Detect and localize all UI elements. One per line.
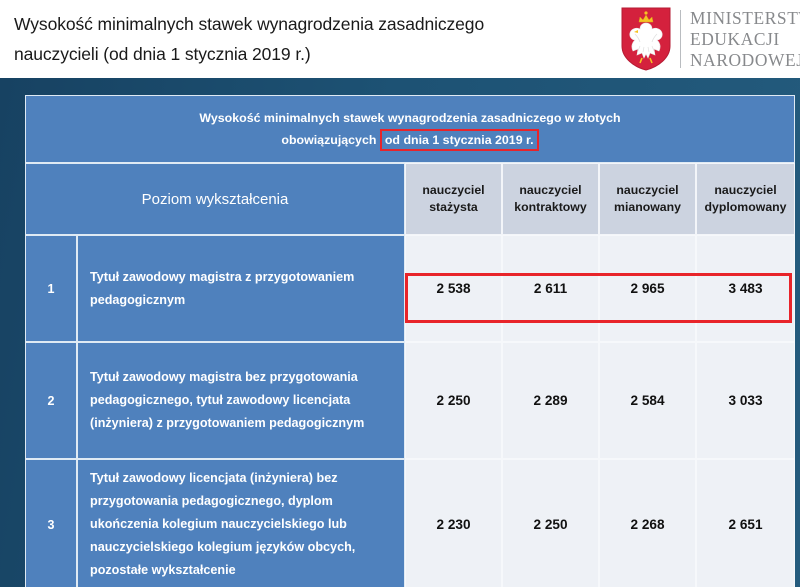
- ministry-line-1: MINISTERSTW: [690, 8, 800, 29]
- page-title-line-1: Wysokość minimalnych stawek wynagrodzeni…: [14, 9, 612, 39]
- slide-canvas: Wysokość minimalnych stawek wynagrodzeni…: [0, 0, 800, 587]
- column-header-mianowany: nauczyciel mianowany: [599, 163, 696, 235]
- row-description: Tytuł zawodowy magistra bez przygotowani…: [77, 342, 405, 459]
- column-header-education-level: Poziom wykształcenia: [25, 163, 405, 235]
- row-description: Tytuł zawodowy licencjata (inżyniera) be…: [77, 459, 405, 587]
- row-number: 3: [25, 459, 77, 587]
- table-row: 3 Tytuł zawodowy licencjata (inżyniera) …: [25, 459, 795, 587]
- ministry-line-3: NARODOWEJ: [690, 50, 800, 71]
- column-header-kontraktowy-line-2: kontraktowy: [514, 200, 586, 214]
- table-banner-row: Wysokość minimalnych stawek wynagrodzeni…: [25, 95, 795, 163]
- value-dyplomowany: 3 033: [696, 342, 795, 459]
- column-header-mianowany-line-1: nauczyciel: [616, 183, 678, 197]
- value-kontraktowy: 2 289: [502, 342, 599, 459]
- column-header-mianowany-line-2: mianowany: [614, 200, 681, 214]
- page-title: Wysokość minimalnych stawek wynagrodzeni…: [0, 9, 612, 69]
- column-header-stazysta: nauczyciel stażysta: [405, 163, 502, 235]
- polish-coat-of-arms-icon: [618, 6, 674, 72]
- value-dyplomowany: 2 651: [696, 459, 795, 587]
- value-stazysta: 2 538: [405, 235, 502, 342]
- column-header-stazysta-line-1: nauczyciel: [422, 183, 484, 197]
- value-kontraktowy: 2 250: [502, 459, 599, 587]
- salary-table-container: Wysokość minimalnych stawek wynagrodzeni…: [25, 95, 795, 587]
- row-number: 2: [25, 342, 77, 459]
- table-banner-cell: Wysokość minimalnych stawek wynagrodzeni…: [25, 95, 795, 163]
- column-header-kontraktowy-line-1: nauczyciel: [519, 183, 581, 197]
- value-kontraktowy: 2 611: [502, 235, 599, 342]
- row-number: 1: [25, 235, 77, 342]
- table-column-header-row: Poziom wykształcenia nauczyciel stażysta…: [25, 163, 795, 235]
- value-stazysta: 2 230: [405, 459, 502, 587]
- value-dyplomowany: 3 483: [696, 235, 795, 342]
- page-header: Wysokość minimalnych stawek wynagrodzeni…: [0, 0, 800, 78]
- value-mianowany: 2 584: [599, 342, 696, 459]
- ministry-name: MINISTERSTW EDUKACJI NARODOWEJ: [690, 8, 800, 71]
- brand-divider: [680, 10, 681, 68]
- row-description: Tytuł zawodowy magistra z przygotowaniem…: [77, 235, 405, 342]
- banner-line-2-prefix: obowiązujących: [281, 133, 379, 147]
- column-header-kontraktowy: nauczyciel kontraktowy: [502, 163, 599, 235]
- column-header-stazysta-line-2: stażysta: [429, 200, 478, 214]
- page-title-line-2: nauczycieli (od dnia 1 stycznia 2019 r.): [14, 39, 612, 69]
- ministry-line-2: EDUKACJI: [690, 29, 800, 50]
- banner-date-highlight: od dnia 1 stycznia 2019 r.: [380, 129, 539, 151]
- value-mianowany: 2 965: [599, 235, 696, 342]
- column-header-dyplomowany: nauczyciel dyplomowany: [696, 163, 795, 235]
- banner-line-1: Wysokość minimalnych stawek wynagrodzeni…: [199, 111, 620, 125]
- column-header-dyplomowany-line-1: nauczyciel: [714, 183, 776, 197]
- table-row: 2 Tytuł zawodowy magistra bez przygotowa…: [25, 342, 795, 459]
- value-stazysta: 2 250: [405, 342, 502, 459]
- value-mianowany: 2 268: [599, 459, 696, 587]
- table-row: 1 Tytuł zawodowy magistra z przygotowani…: [25, 235, 795, 342]
- column-header-dyplomowany-line-2: dyplomowany: [705, 200, 787, 214]
- ministry-branding: MINISTERSTW EDUKACJI NARODOWEJ: [618, 0, 800, 78]
- salary-table: Wysokość minimalnych stawek wynagrodzeni…: [25, 95, 795, 587]
